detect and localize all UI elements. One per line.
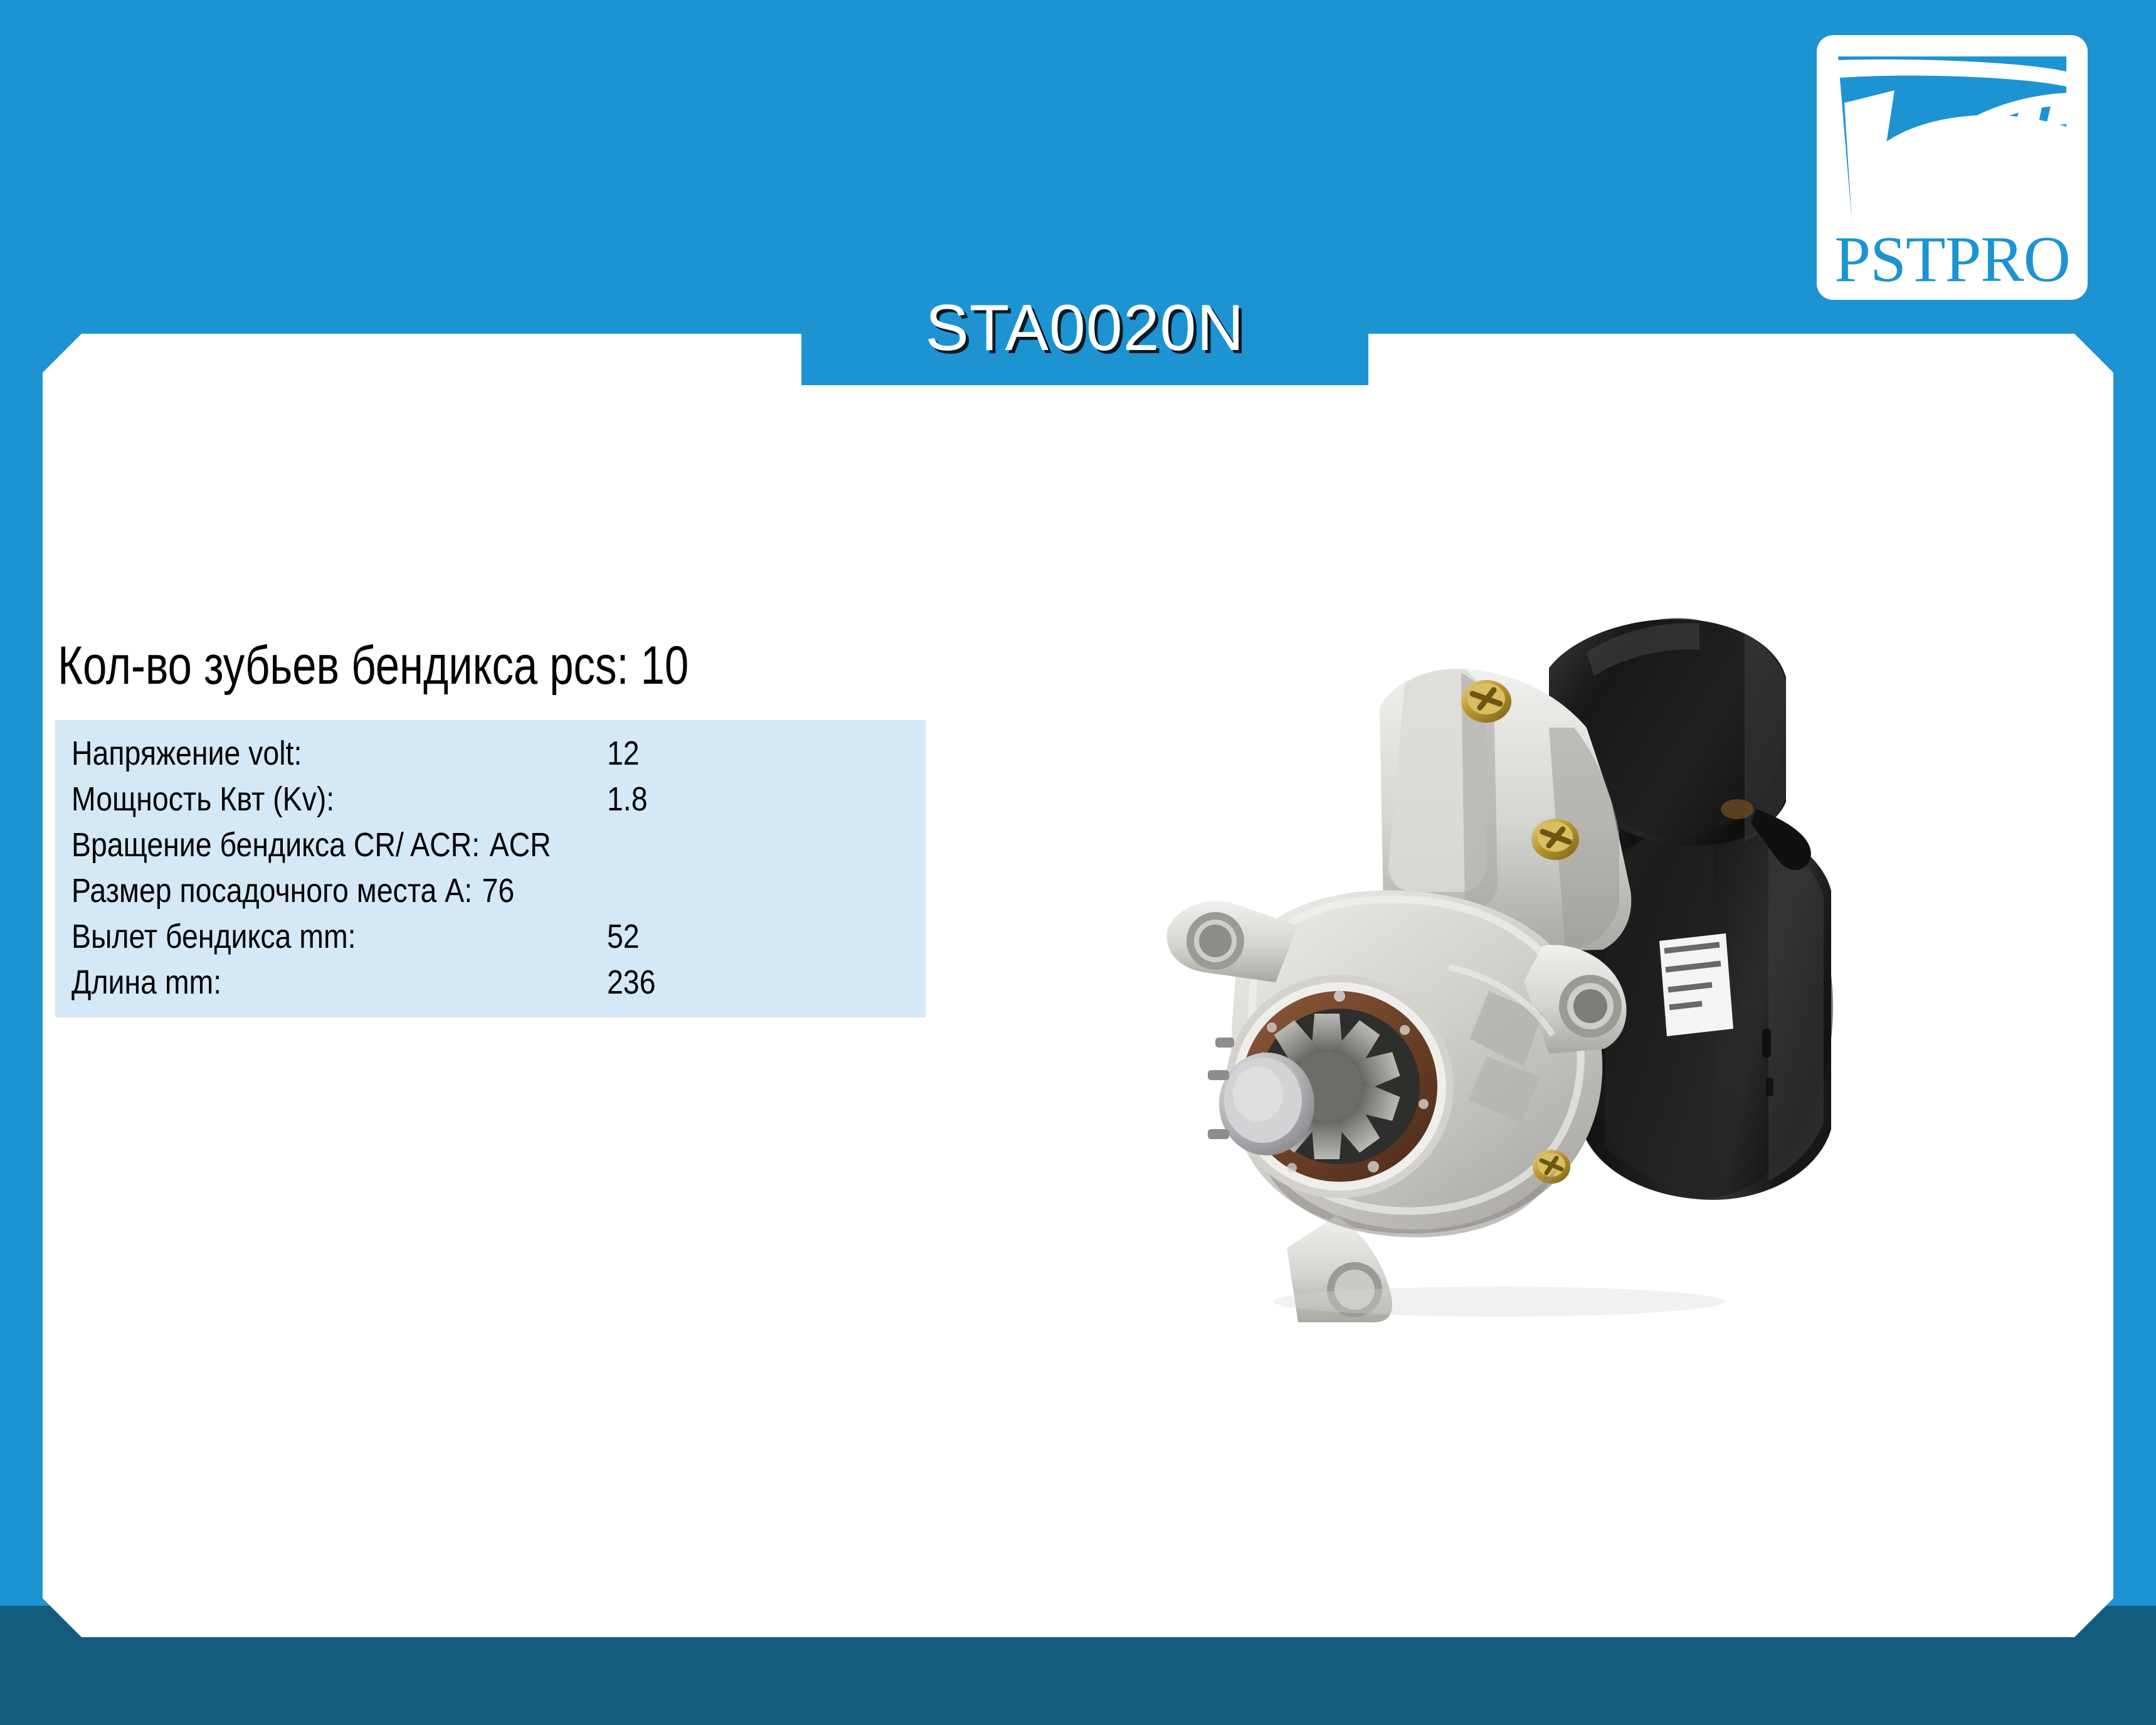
screw-upper xyxy=(1461,680,1511,723)
spec-label: Размер посадочного места А: xyxy=(71,871,472,910)
spec-label: Напряжение volt: xyxy=(71,734,571,773)
screw-lower xyxy=(1531,819,1579,860)
right-rail xyxy=(2112,0,2156,1725)
spec-value: 52 xyxy=(571,917,688,956)
right-rail-footer xyxy=(2112,1606,2156,1725)
logo-wordmark: PSTPRO xyxy=(1834,223,2070,295)
spec-label: Вращение бендикса CR/ ACR: xyxy=(71,825,480,864)
left-rail-footer xyxy=(0,1606,44,1725)
table-row: Мощность Квт (Kv): 1.8 xyxy=(71,780,794,825)
left-rail xyxy=(0,0,44,1725)
spec-label: Мощность Квт (Kv): xyxy=(71,780,571,819)
table-row: Вращение бендикса CR/ ACR: ACR xyxy=(71,825,794,871)
spec-value: ACR xyxy=(480,825,551,864)
spec-sheet-page: STA0020N PSTPRO Кол-во зубьев бендикса xyxy=(0,0,2156,1725)
table-row: Напряжение volt: 12 xyxy=(71,734,794,780)
spec-table: Напряжение volt: 12 Мощность Квт (Kv): 1… xyxy=(55,720,926,1017)
spec-label: Длина mm: xyxy=(71,963,571,1002)
product-label xyxy=(1659,933,1733,1036)
shaft-end-cap xyxy=(1219,1053,1314,1155)
page-title: STA0020N xyxy=(801,271,1368,385)
product-image xyxy=(1110,539,1919,1324)
brand-logo: PSTPRO xyxy=(1814,33,2090,302)
spec-heading: Кол-во зубьев бендикса pcs: 10 xyxy=(58,639,689,693)
spec-value: 1.8 xyxy=(571,780,688,819)
table-row: Размер посадочного места А: 76 xyxy=(71,871,794,917)
table-row: Длина mm: 236 xyxy=(71,963,794,1009)
spec-value: 236 xyxy=(571,963,688,1002)
spec-label: Вылет бендикса mm: xyxy=(71,917,571,956)
spec-rows: Напряжение volt: 12 Мощность Квт (Kv): 1… xyxy=(71,734,794,1009)
spec-value: 76 xyxy=(472,871,514,910)
table-row: Вылет бендикса mm: 52 xyxy=(71,917,794,963)
spec-value: 12 xyxy=(571,734,688,773)
